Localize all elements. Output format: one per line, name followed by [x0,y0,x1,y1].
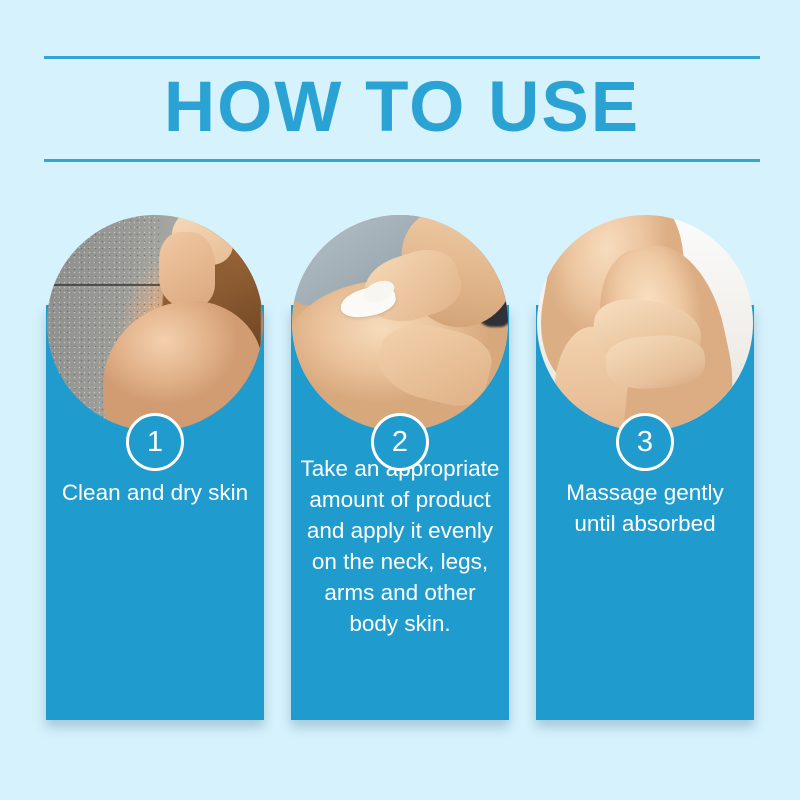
neck-shape [159,232,215,305]
step-photo-3 [537,215,753,431]
step-card-1[interactable]: 1 Clean and dry skin [46,215,264,720]
title-rule-bottom [44,159,760,162]
step-number-badge-1: 1 [126,413,184,471]
step-number-label: 1 [147,428,163,457]
step-caption-3: Massage gently until absorbed [544,477,746,539]
title-block: HOW TO USE [44,56,760,162]
steps-row: 1 Clean and dry skin 2 Take an appropria… [0,215,800,735]
step-number-badge-2: 2 [371,413,429,471]
step-number-badge-3: 3 [616,413,674,471]
step-caption-2: Take an appropriate amount of product an… [299,453,501,639]
page-title: HOW TO USE [44,59,760,159]
step-caption-1: Clean and dry skin [54,477,256,508]
step-card-2[interactable]: 2 Take an appropriate amount of product … [291,215,509,720]
step-number-label: 2 [392,428,408,457]
step-photo-2 [292,215,508,431]
step-card-3[interactable]: 3 Massage gently until absorbed [536,215,754,720]
step-photo-1 [47,215,263,431]
step-number-label: 3 [637,428,653,457]
